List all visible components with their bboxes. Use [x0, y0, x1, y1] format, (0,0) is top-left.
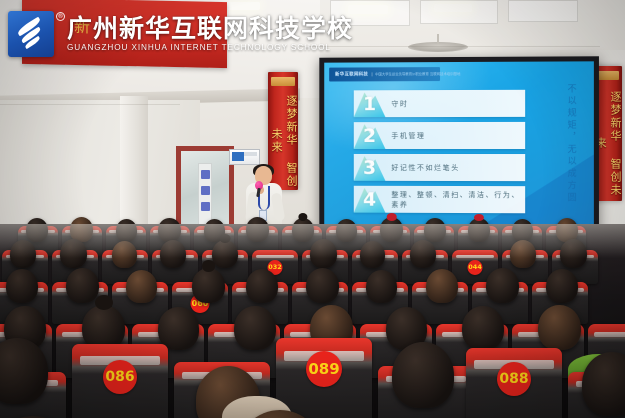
ceiling-panel [508, 0, 578, 22]
slide-brand-text: 新华互联网科技 [335, 71, 368, 77]
school-name-english: GUANGZHOU XINHUA INTERNET TECHNOLOGY SCH… [67, 43, 353, 52]
audience-head [112, 241, 137, 268]
audience-head [546, 269, 578, 303]
slide-row-text: 好记性不如烂笔头 [385, 162, 459, 172]
slide-row-number: 2 [354, 122, 386, 149]
wall-information-sign [229, 149, 260, 165]
slide-row-number-text: 2 [363, 125, 376, 147]
seat: 089 [276, 338, 372, 418]
audience-head [212, 240, 238, 268]
audience-head [510, 240, 536, 268]
slide-row-number: 3 [354, 154, 386, 181]
slide-tagline: 中国大学生创业先导教育\n职业教育 互联网技术培训基地 [371, 72, 460, 77]
ceiling-fan-icon [408, 42, 468, 52]
projector-screen-frame: 新华互联网科技 中国大学生创业先导教育\n职业教育 互联网技术培训基地 1 守时… [319, 56, 599, 237]
slide-row-text: 手机管理 [385, 131, 425, 141]
audience-head [60, 239, 87, 268]
audience-head [426, 269, 458, 303]
seat-number: 088 [497, 362, 531, 396]
school-watermark: ® 广州新华互联网科技学校 GUANGZHOU XINHUA INTERNET … [8, 8, 353, 60]
audience-head [158, 307, 199, 350]
audience-head [306, 268, 339, 303]
audience-head [424, 218, 446, 242]
handheld-microphone-icon [255, 181, 263, 190]
audience-head [468, 218, 490, 242]
seat: 088 [466, 348, 562, 418]
audience-head [234, 306, 276, 350]
ceiling-light [348, 5, 388, 14]
audience-head [410, 240, 436, 268]
audience-head [538, 305, 581, 350]
audience-head [26, 218, 48, 242]
banner-cap-left [271, 77, 295, 86]
audience-head [512, 219, 533, 242]
ceiling-light [434, 4, 472, 12]
audience-head [192, 268, 225, 303]
seat-number: 086 [103, 360, 137, 394]
audience-head [246, 269, 278, 303]
audience-head [6, 269, 38, 303]
audience-head [126, 270, 157, 303]
slide-side-motto: 不以规矩，无以成方圆 [563, 84, 578, 205]
audience-head [292, 218, 314, 242]
slide-rule-list: 1 守时 2 手机管理 3 好记性不如烂笔头 4 整理、整顿、清扫、清洁、行为、… [354, 90, 525, 219]
slide-row-number-text: 1 [363, 93, 376, 115]
seat: 086 [72, 344, 168, 418]
list-item: 3 好记性不如烂笔头 [354, 154, 525, 181]
audience-head [462, 306, 504, 350]
slide-row-text: 整理、整顿、清扫、清洁、行为、素养 [385, 189, 525, 209]
xinhua-swoosh-logo-icon [8, 11, 54, 57]
list-item: 1 守时 [354, 90, 525, 117]
seated-student-audience: 032 044 060 [0, 224, 625, 418]
slide-row-number-text: 3 [363, 156, 376, 178]
slide-row-number: 1 [354, 90, 386, 117]
wall-seam [0, 104, 180, 105]
audience-head [160, 240, 186, 268]
audience-head [10, 240, 36, 268]
seat-number: 089 [306, 351, 342, 387]
audience-head [310, 239, 337, 268]
presentation-slide: 新华互联网科技 中国大学生创业先导教育\n职业教育 互联网技术培训基地 1 守时… [324, 61, 594, 232]
slide-row-number-text: 4 [363, 188, 376, 210]
list-item: 2 手机管理 [354, 122, 525, 149]
audience-head [66, 268, 99, 303]
lecture-hall-photo: 新 华 逐梦新华 智创未来 逐梦新华 智创未来 新华互联网科技 中国大学生创业先… [0, 0, 625, 418]
school-name-chinese: 广州新华互联网科技学校 [67, 16, 353, 42]
watermark-text-block: 广州新华互联网科技学校 GUANGZHOU XINHUA INTERNET TE… [61, 16, 353, 52]
audience-head [336, 219, 357, 242]
audience-head [246, 217, 269, 242]
audience-head [158, 218, 181, 242]
audience-head [360, 241, 385, 268]
audience-head [486, 268, 519, 303]
audience-head [380, 217, 403, 242]
slide-row-number: 4 [354, 186, 386, 213]
slide-row-text: 守时 [385, 99, 408, 109]
audience-head [560, 239, 587, 268]
list-item: 4 整理、整顿、清扫、清洁、行为、素养 [354, 186, 525, 213]
audience-head-foreground [392, 342, 454, 408]
slide-header-logo: 新华互联网科技 中国大学生创业先导教育\n职业教育 互联网技术培训基地 [329, 67, 440, 81]
audience-head [366, 270, 397, 303]
seat-number: 044 [468, 260, 483, 275]
audience-head [116, 219, 137, 242]
